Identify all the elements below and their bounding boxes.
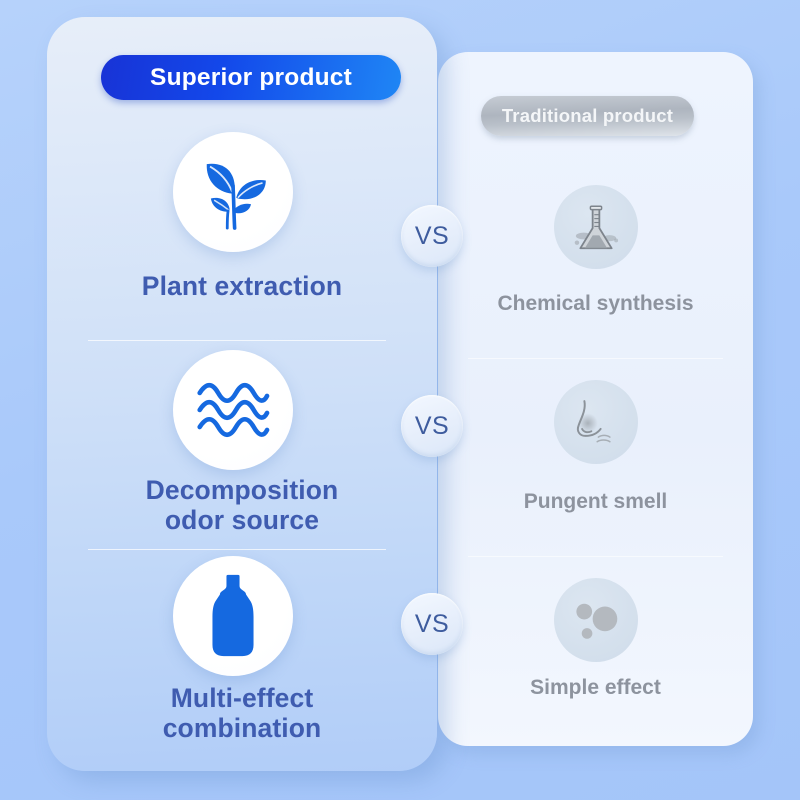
- superior-item-1-label: Plant extraction: [47, 272, 437, 302]
- traditional-item-1-label: Chemical synthesis: [438, 292, 753, 316]
- infographic-canvas: Superior product Traditional product Pla…: [0, 0, 800, 800]
- chemical-flask-icon: [568, 199, 624, 255]
- water-waves-icon-circle: [173, 350, 293, 470]
- traditional-item-3-label: Simple effect: [438, 676, 753, 700]
- plant-sprout-icon: [192, 151, 274, 233]
- nose-smell-icon: [567, 393, 625, 451]
- plant-sprout-icon-circle: [173, 132, 293, 252]
- three-dots-icon-circle: [554, 578, 638, 662]
- vs-badge-row-3: VS: [401, 593, 463, 655]
- water-waves-icon: [196, 381, 270, 439]
- nose-smell-icon-circle: [554, 380, 638, 464]
- superior-item-1-label-text: Plant extraction: [142, 271, 342, 301]
- spray-bottle-icon-circle: [173, 556, 293, 676]
- superior-item-3-label-line2: combination: [47, 714, 437, 744]
- traditional-divider-2: [468, 556, 723, 557]
- traditional-item-2-label: Pungent smell: [438, 490, 753, 514]
- chemical-flask-icon-circle: [554, 185, 638, 269]
- superior-divider-1: [88, 340, 386, 341]
- superior-product-badge: Superior product: [101, 55, 401, 100]
- three-dots-icon: [568, 592, 624, 648]
- superior-item-3-label: Multi-effect combination: [47, 684, 437, 743]
- superior-divider-2: [88, 549, 386, 550]
- superior-item-2-label-line2: odor source: [47, 506, 437, 536]
- vs-badge-row-2: VS: [401, 395, 463, 457]
- superior-item-2-label-line1: Decomposition: [47, 476, 437, 506]
- superior-item-3-label-line1: Multi-effect: [47, 684, 437, 714]
- vs-badge-row-1: VS: [401, 205, 463, 267]
- traditional-divider-1: [468, 358, 723, 359]
- spray-bottle-icon: [204, 574, 262, 658]
- traditional-product-badge: Traditional product: [481, 96, 694, 136]
- superior-item-2-label: Decomposition odor source: [47, 476, 437, 535]
